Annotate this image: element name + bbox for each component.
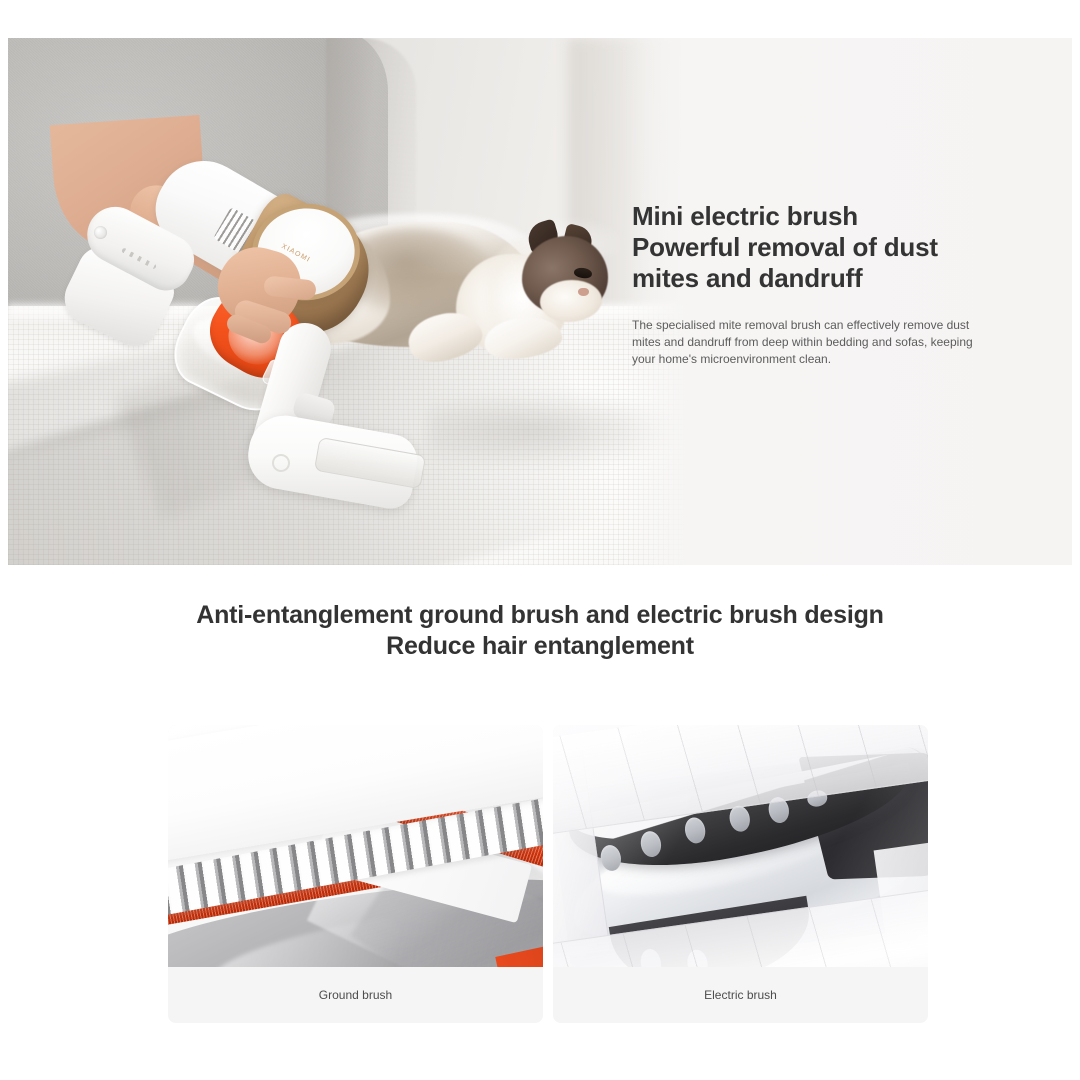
section-heading-line-1: Anti-entanglement ground brush and elect… [196,601,883,629]
section-heading-line-2: Reduce hair entanglement [386,632,694,660]
product-feature-page: XIAOMI Mini electric brushPo [0,0,1080,1080]
hero-heading: Mini electric brushPowerful removal of d… [632,201,982,294]
vacuum-power-button [94,226,107,239]
anti-entanglement-section: Anti-entanglement ground brush and elect… [0,600,1080,662]
card-ground-brush[interactable]: Ground brush [168,725,543,1023]
hero-section: XIAOMI Mini electric brushPo [8,38,1072,565]
card-electric-brush[interactable]: Electric brush [553,725,928,1023]
blade-hole [639,829,664,858]
electric-brush-image [553,725,928,967]
section-heading: Anti-entanglement ground brush and elect… [0,600,1080,662]
hero-heading-line-3: mites and dandruff [632,263,862,293]
hero-heading-line-2: Powerful removal of dust [632,232,938,262]
blade-hole [683,816,708,845]
hero-body-text: The specialised mite removal brush can e… [632,317,982,368]
electric-brush-caption: Electric brush [553,967,928,1023]
cat-nose [578,288,589,296]
ground-brush-caption: Ground brush [168,967,543,1023]
cat-muzzle [540,280,602,322]
ground-brush-image [168,725,543,967]
brush-cards: Ground brush [168,725,928,1023]
hero-heading-line-1: Mini electric brush [632,201,858,231]
hero-text-panel: Mini electric brushPowerful removal of d… [624,38,1072,565]
blade-hole [599,843,624,872]
cordless-vacuum: XIAOMI [68,128,468,538]
